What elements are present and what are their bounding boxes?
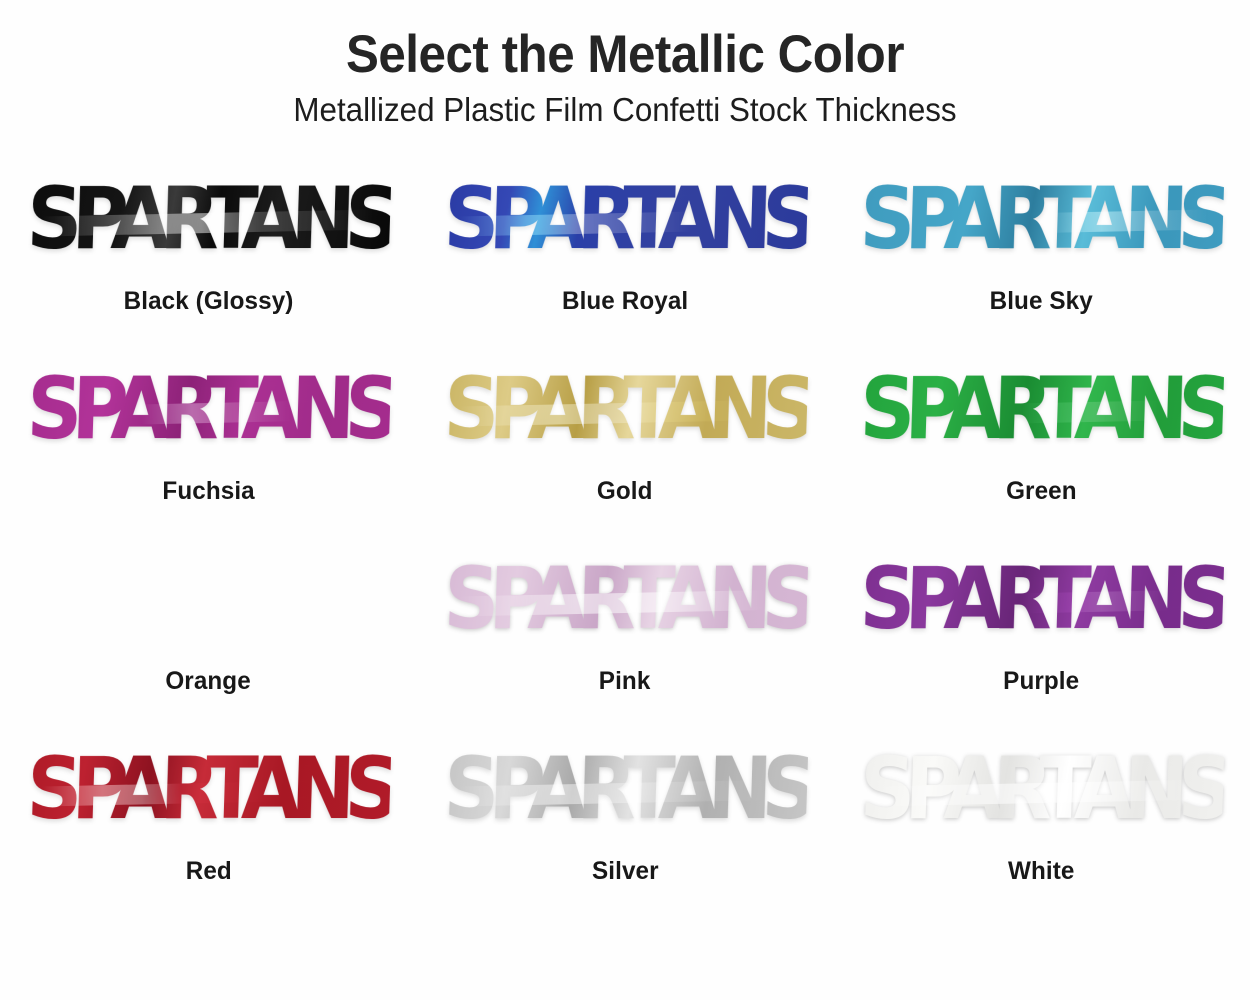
spartans-wordart: SPARTANS bbox=[442, 746, 808, 832]
color-name-label: White bbox=[1008, 857, 1074, 886]
spartans-wordart: SPARTANS bbox=[26, 176, 392, 262]
spartans-wordart: SPARTANS bbox=[859, 746, 1225, 832]
spartans-wordart: SPARTANS bbox=[442, 556, 808, 642]
confetti-wordart-preview[interactable]: SPARTANS bbox=[445, 353, 805, 465]
confetti-wordart-preview[interactable]: SPARTANS bbox=[28, 163, 388, 275]
color-name-label: Black (Glossy) bbox=[123, 287, 293, 316]
color-swatch-option[interactable]: SPARTANSPurple bbox=[833, 543, 1250, 733]
color-name-label: Purple bbox=[1004, 667, 1080, 696]
color-name-label: Green bbox=[1006, 477, 1077, 506]
color-name-label: Blue Sky bbox=[990, 287, 1093, 316]
confetti-wordart-preview[interactable]: SPARTANS bbox=[862, 733, 1222, 845]
color-swatch-option[interactable]: SPARTANSBlue Sky bbox=[833, 163, 1250, 353]
color-name-label: Silver bbox=[592, 857, 659, 886]
color-name-label: Pink bbox=[599, 667, 651, 696]
color-swatch-grid: SPARTANSBlack (Glossy)SPARTANSBlue Royal… bbox=[0, 163, 1250, 923]
color-name-label: Blue Royal bbox=[562, 287, 688, 316]
confetti-wordart-preview[interactable]: SPARTANS bbox=[445, 733, 805, 845]
color-name-label: Orange bbox=[166, 667, 251, 696]
color-swatch-option[interactable]: SPARTANSSilver bbox=[417, 733, 834, 923]
color-swatch-option[interactable]: SPARTANSRed bbox=[0, 733, 417, 923]
spartans-wordart: SPARTANS bbox=[442, 366, 808, 452]
color-swatch-option[interactable]: SPARTANSWhite bbox=[833, 733, 1250, 923]
color-swatch-option[interactable]: SPARTANSPink bbox=[417, 543, 834, 733]
page-header: Select the Metallic Color Metallized Pla… bbox=[0, 0, 1250, 129]
confetti-wordart-preview[interactable]: SPARTANS bbox=[862, 163, 1222, 275]
color-swatch-option[interactable]: SPARTANSBlack (Glossy) bbox=[0, 163, 417, 353]
spartans-wordart: SPARTANS bbox=[859, 556, 1225, 642]
spartans-wordart: SPARTANS bbox=[859, 176, 1225, 262]
spartans-wordart: SPARTANS bbox=[442, 176, 808, 262]
spartans-wordart: SPARTANS bbox=[859, 366, 1225, 452]
page-title: Select the Metallic Color bbox=[44, 26, 1207, 83]
page-subtitle: Metallized Plastic Film Confetti Stock T… bbox=[31, 92, 1219, 128]
color-swatch-option[interactable]: SPARTANSFuchsia bbox=[0, 353, 417, 543]
confetti-wordart-preview[interactable]: SPARTANS bbox=[445, 163, 805, 275]
color-swatch-option[interactable]: SPARTANSGold bbox=[417, 353, 834, 543]
spartans-wordart: SPARTANS bbox=[26, 366, 392, 452]
confetti-wordart-preview[interactable]: SPARTANS bbox=[445, 543, 805, 655]
spartans-wordart: SPARTANS bbox=[26, 556, 392, 642]
confetti-wordart-preview[interactable]: SPARTANS bbox=[862, 543, 1222, 655]
color-swatch-option[interactable]: SPARTANSGreen bbox=[833, 353, 1250, 543]
color-name-label: Gold bbox=[597, 477, 653, 506]
color-name-label: Fuchsia bbox=[162, 477, 254, 506]
color-swatch-option[interactable]: SPARTANSOrange bbox=[0, 543, 417, 733]
color-swatch-option[interactable]: SPARTANSBlue Royal bbox=[417, 163, 834, 353]
spartans-wordart: SPARTANS bbox=[26, 746, 392, 832]
confetti-wordart-preview[interactable]: SPARTANS bbox=[28, 733, 388, 845]
confetti-wordart-preview[interactable]: SPARTANS bbox=[862, 353, 1222, 465]
confetti-wordart-preview[interactable]: SPARTANS bbox=[28, 543, 388, 655]
confetti-wordart-preview[interactable]: SPARTANS bbox=[28, 353, 388, 465]
color-name-label: Red bbox=[185, 857, 231, 886]
color-selection-page: Select the Metallic Color Metallized Pla… bbox=[0, 0, 1250, 1000]
